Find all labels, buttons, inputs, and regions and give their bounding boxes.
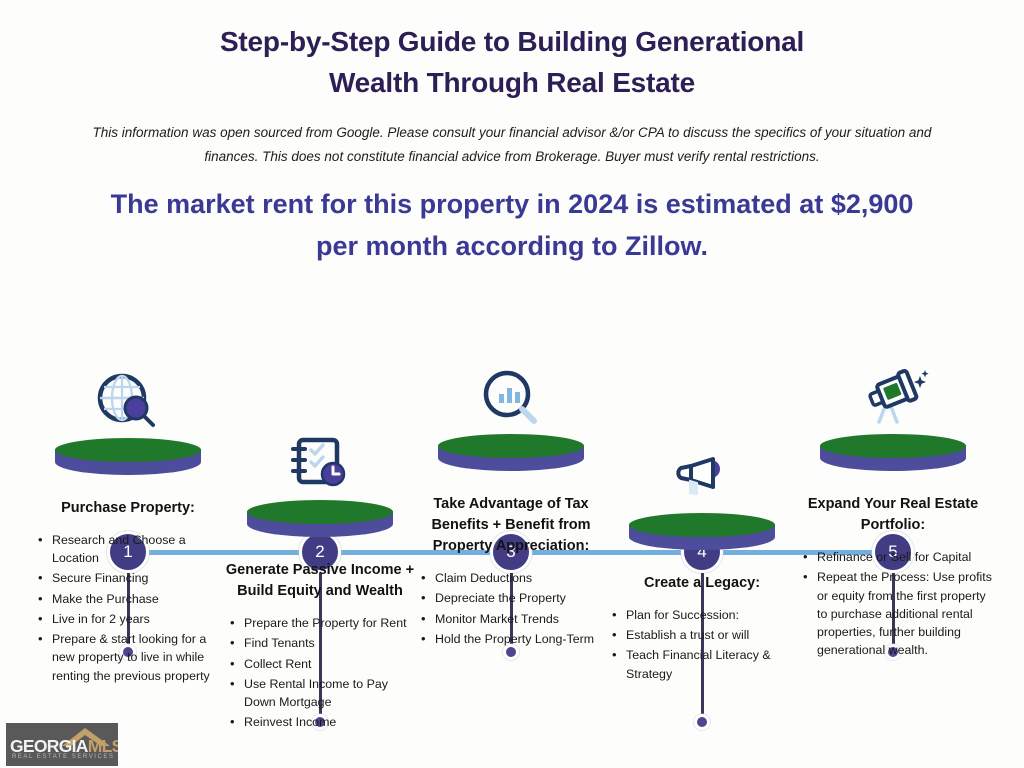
logo-tagline: REAL ESTATE SERVICES [12,754,114,760]
list-item: Refinance or Sell for Capital [803,548,993,566]
magnifier-chart-icon [411,366,611,426]
step-4-cylinder [629,513,775,557]
step-1-list: Research and Choose a Location Secure Fi… [28,531,228,685]
market-rent-statement: The market rent for this property in 202… [97,184,927,268]
list-item: Establish a trust or will [612,626,802,644]
list-item: Prepare & start looking for a new proper… [38,630,228,685]
list-item: Reinvest Income [230,713,420,731]
list-item: Depreciate the Property [421,589,611,607]
checklist-clock-icon [220,432,420,492]
megaphone-icon [602,445,802,505]
list-item: Find Tenants [230,634,420,652]
list-item: Repeat the Process: Use profits or equit… [803,568,993,659]
step-4-list: Plan for Succession: Establish a trust o… [602,606,802,683]
infographic-header: Step-by-Step Guide to Building Generatio… [0,0,1024,268]
step-3-cylinder [438,434,584,478]
step-5: Expand Your Real Estate Portfolio: Refin… [793,366,993,661]
list-item: Live in for 2 years [38,610,228,628]
step-2-cylinder [247,500,393,544]
disclaimer-text: This information was open sourced from G… [65,121,960,168]
step-3: Take Advantage of Tax Benefits + Benefit… [411,366,611,650]
cylinder-top [629,513,775,537]
step-1: Purchase Property: Research and Choose a… [28,370,228,687]
list-item: Research and Choose a Location [38,531,228,567]
list-item: Hold the Property Long-Term [421,630,611,648]
telescope-icon [793,366,993,426]
page-title: Step-by-Step Guide to Building Generatio… [162,22,862,103]
step-2-list: Prepare the Property for Rent Find Tenan… [220,614,420,731]
list-item: Teach Financial Literacy & Strategy [612,646,802,682]
step-1-title: Purchase Property: [28,498,228,519]
step-2-title: Generate Passive Income + Build Equity a… [220,560,420,602]
step-2: Generate Passive Income + Build Equity a… [220,432,420,733]
timeline-node-4-dot [697,717,707,727]
step-4: Create a Legacy: Plan for Succession: Es… [602,445,802,685]
page-title-line-1: Step-by-Step Guide to Building Generatio… [162,22,862,63]
step-3-list: Claim Deductions Depreciate the Property… [411,569,611,648]
cylinder-top [247,500,393,524]
step-5-list: Refinance or Sell for Capital Repeat the… [793,548,993,659]
list-item: Secure Financing [38,569,228,587]
step-5-cylinder [820,434,966,478]
globe-search-icon [28,370,228,430]
step-1-cylinder [55,438,201,482]
step-4-title: Create a Legacy: [602,573,802,594]
logo-name-primary: GEORGIA [10,736,88,756]
list-item: Monitor Market Trends [421,610,611,628]
list-item: Claim Deductions [421,569,611,587]
cylinder-top [55,438,201,462]
list-item: Prepare the Property for Rent [230,614,420,632]
cylinder-top [438,434,584,458]
page-title-line-2: Wealth Through Real Estate [162,63,862,104]
logo-name-secondary: MLS [88,736,118,756]
step-5-title: Expand Your Real Estate Portfolio: [793,494,993,536]
list-item: Plan for Succession: [612,606,802,624]
list-item: Collect Rent [230,655,420,673]
cylinder-top [820,434,966,458]
list-item: Make the Purchase [38,590,228,608]
georgia-mls-logo: GEORGIAMLS REAL ESTATE SERVICES [6,723,118,766]
list-item: Use Rental Income to Pay Down Mortgage [230,675,420,711]
step-3-title: Take Advantage of Tax Benefits + Benefit… [411,494,611,557]
